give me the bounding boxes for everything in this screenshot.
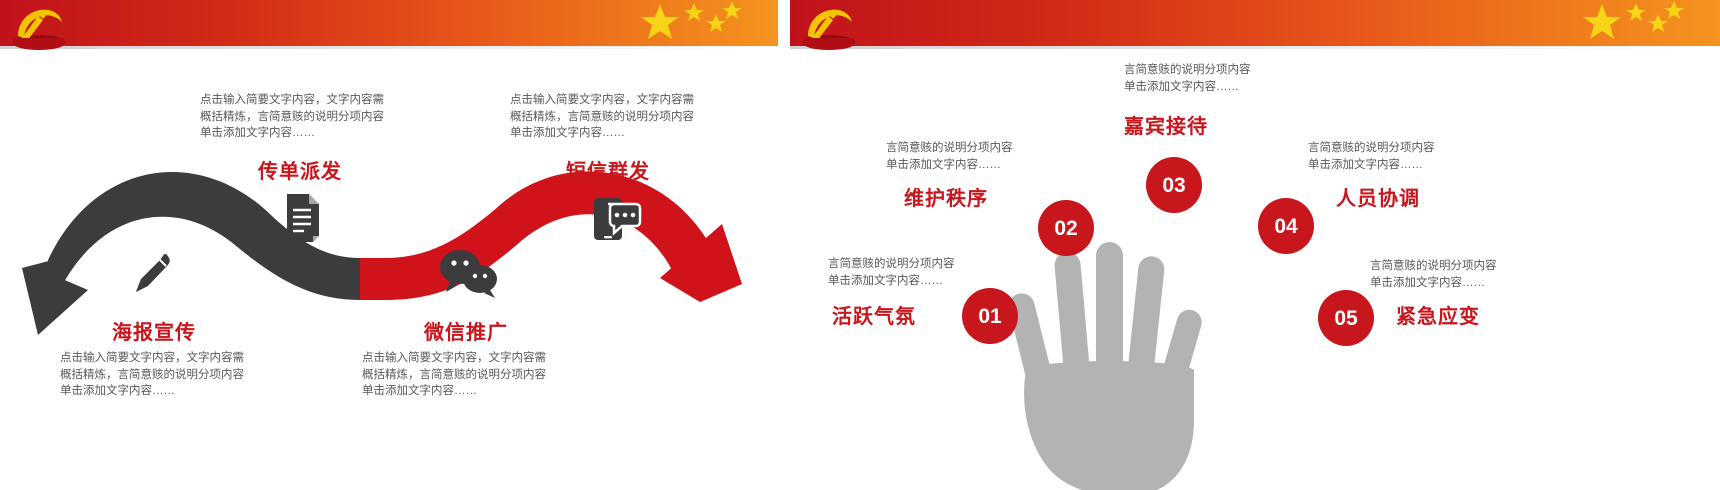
sms-phone-icon [588,192,642,244]
number-badge-label: 04 [1274,216,1297,237]
number-badge-label: 02 [1054,218,1077,239]
slide-left: 海报宣传 点击输入简要文字内容，文字内容需 概括精炼，言简意赅的说明分项内容 单… [0,0,778,490]
right-desc-01: 言简意赅的说明分项内容 单击添加文字内容…… [828,256,1028,289]
left-title-wechat: 微信推广 [424,316,508,345]
wechat-icon [438,248,500,298]
party-emblem-icon [798,2,860,50]
stars-icon [632,0,752,46]
number-badge-label: 01 [978,306,1001,327]
right-desc-05: 言简意赅的说明分项内容 单击添加文字内容…… [1370,258,1590,291]
left-desc-sms: 点击输入简要文字内容，文字内容需 概括精炼，言简意赅的说明分项内容 单击添加文字… [510,92,778,142]
number-badge-03: 03 [1146,157,1202,213]
right-desc-04: 言简意赅的说明分项内容 单击添加文字内容…… [1308,140,1528,173]
right-desc-03: 言简意赅的说明分项内容 单击添加文字内容…… [1124,62,1344,95]
slides-container: 海报宣传 点击输入简要文字内容，文字内容需 概括精炼，言简意赅的说明分项内容 单… [0,0,1720,490]
left-desc-flyer: 点击输入简要文字内容，文字内容需 概括精炼，言简意赅的说明分项内容 单击添加文字… [200,92,510,142]
number-badge-label: 05 [1334,308,1357,329]
left-title-flyer: 传单派发 [258,155,342,184]
right-title-04: 人员协调 [1336,182,1420,211]
left-title-poster: 海报宣传 [112,316,196,345]
document-icon [282,192,324,244]
right-title-05: 紧急应变 [1396,300,1480,329]
left-desc-wechat: 点击输入简要文字内容，文字内容需 概括精炼，言简意赅的说明分项内容 单击添加文字… [362,350,662,400]
slide-right: 01 活跃气氛 言简意赅的说明分项内容 单击添加文字内容…… 02 维护秩序 言… [790,0,1720,490]
number-badge-02: 02 [1038,200,1094,256]
number-badge-01: 01 [962,288,1018,344]
party-emblem-icon [8,2,70,50]
left-title-sms: 短信群发 [566,155,650,184]
left-desc-poster: 点击输入简要文字内容，文字内容需 概括精炼，言简意赅的说明分项内容 单击添加文字… [60,350,360,400]
banner-shadow-right [790,46,1720,49]
number-badge-04: 04 [1258,198,1314,254]
stars-icon [1574,0,1694,46]
number-badge-05: 05 [1318,290,1374,346]
right-title-01: 活跃气氛 [832,300,916,329]
right-title-02: 维护秩序 [904,182,988,211]
right-title-03: 嘉宾接待 [1124,110,1208,139]
slide-divider [778,0,790,490]
pen-icon [130,248,176,298]
number-badge-label: 03 [1162,175,1185,196]
banner-shadow-left [0,46,778,49]
right-desc-02: 言简意赅的说明分项内容 单击添加文字内容…… [886,140,1096,173]
